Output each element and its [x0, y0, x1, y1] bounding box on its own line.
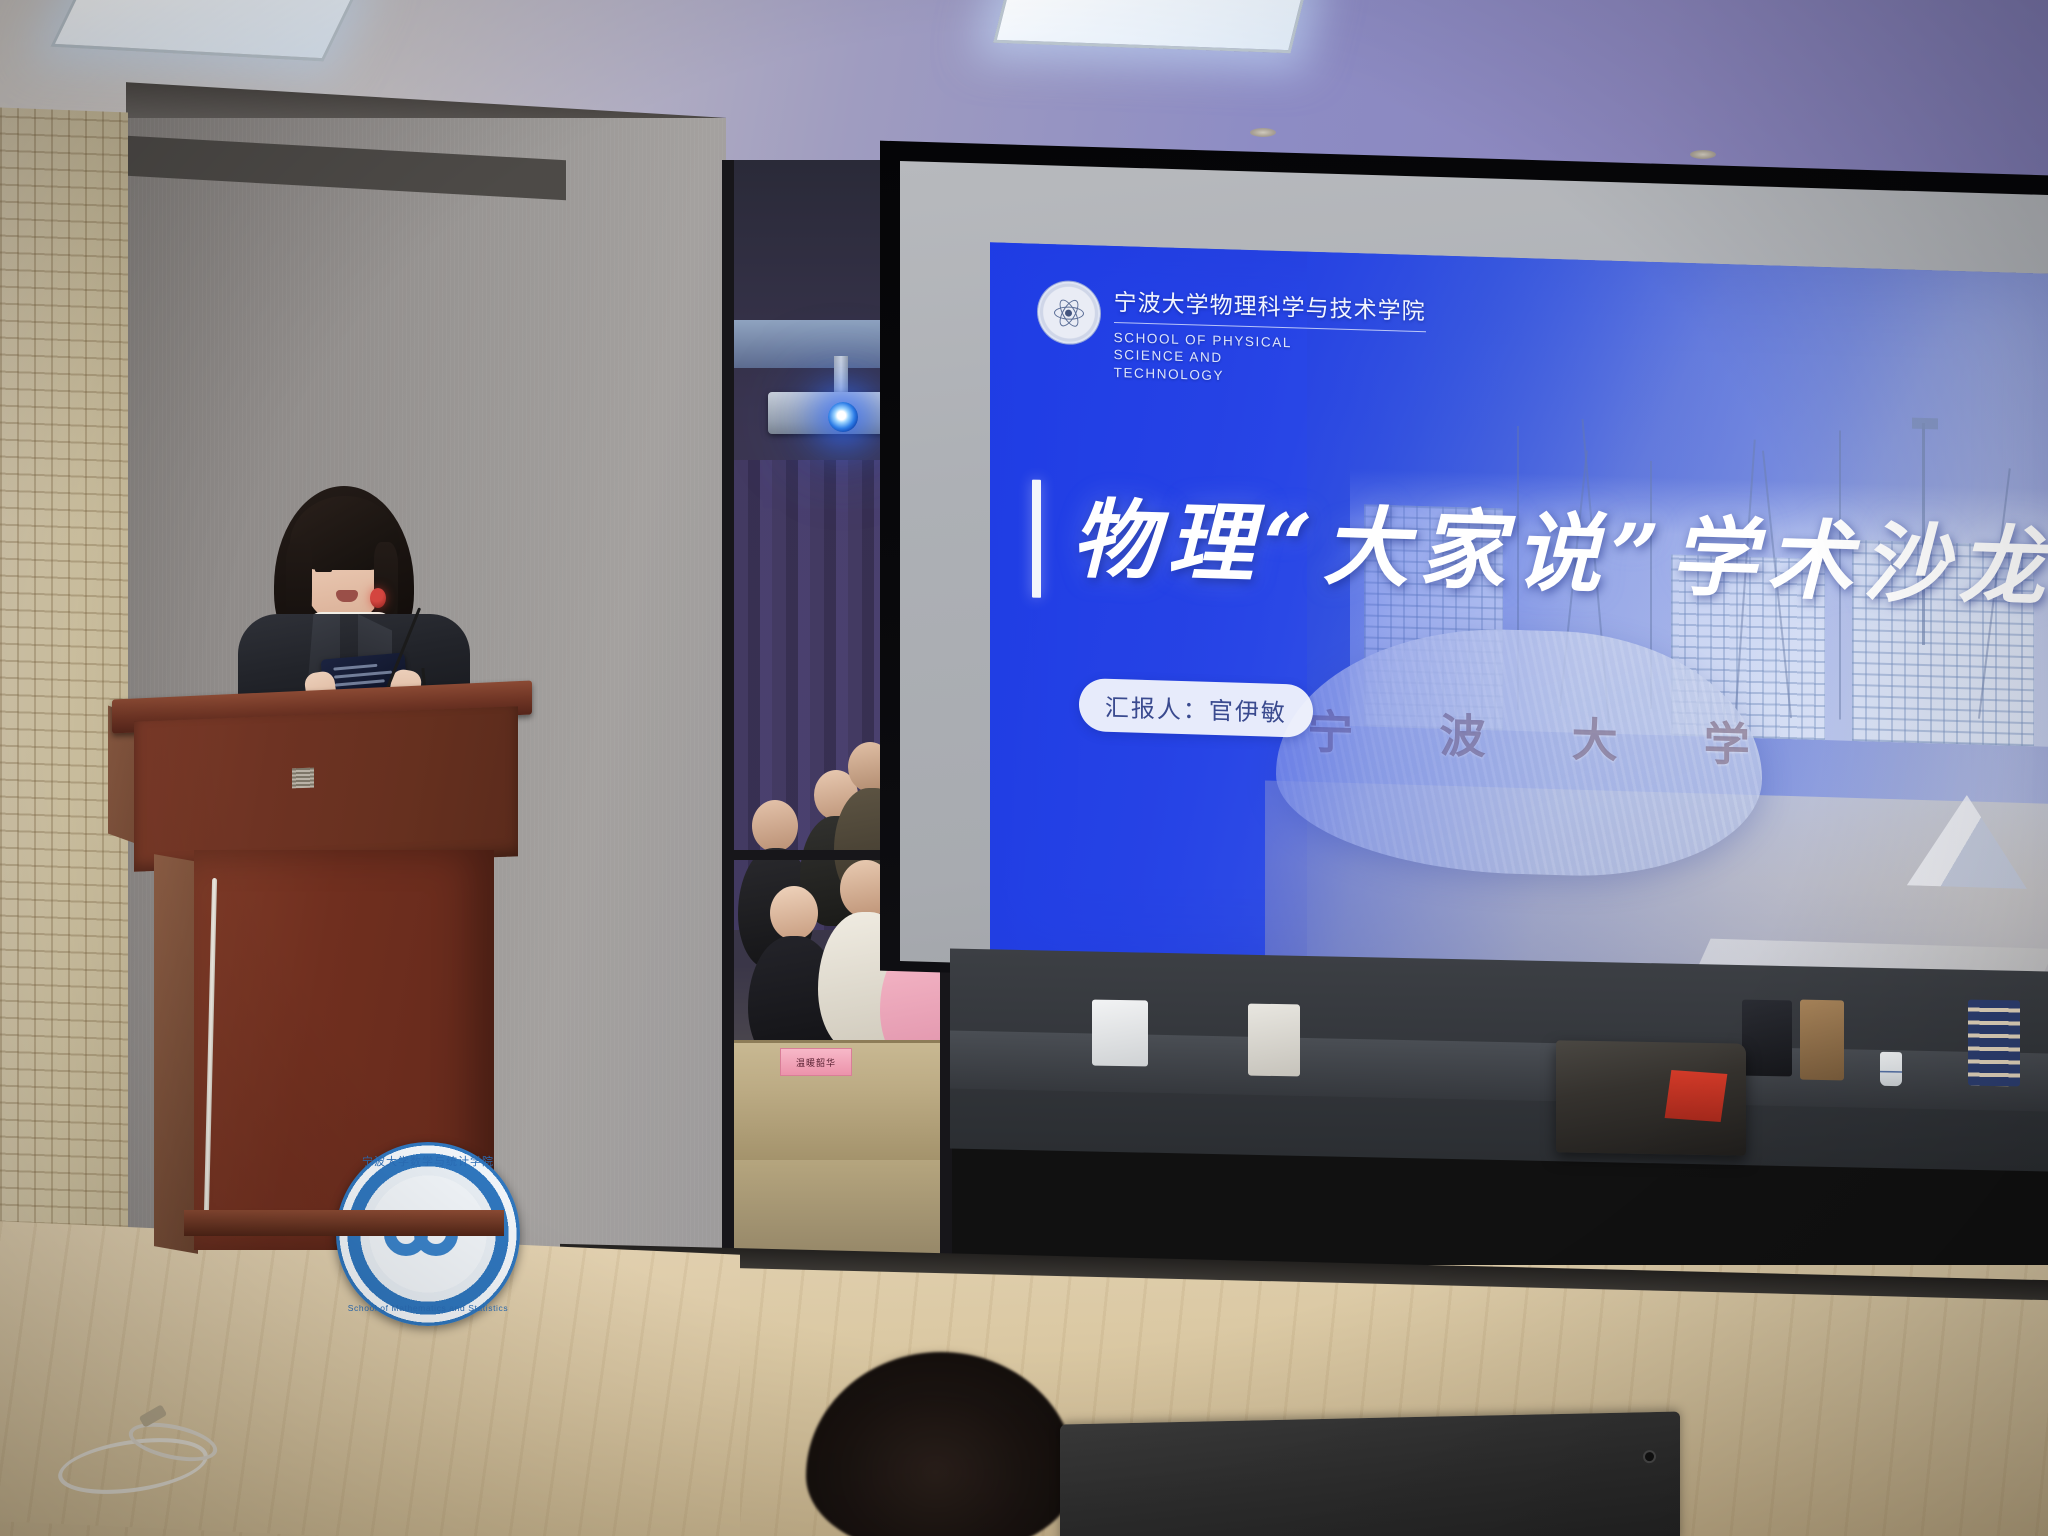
audience-head: [770, 886, 818, 940]
foreground-dark-panel: [1060, 1412, 1680, 1536]
panel-port-icon: [1645, 1452, 1654, 1461]
school-name-en: SCHOOL OF PHYSICAL SCIENCE AND TECHNOLOG…: [1114, 329, 1354, 388]
title-accent-bar: [1032, 480, 1041, 598]
slide-title: 物理“大家说”学术沙龙: [1071, 497, 2048, 612]
podium-column-side: [154, 854, 198, 1254]
phone-text-line: [335, 679, 385, 686]
podium-control-plate: [292, 768, 314, 789]
white-bag: [1092, 1000, 1148, 1067]
paper-bag: [1800, 1000, 1844, 1081]
school-name-cn: 宁波大学物理科学与技术学院: [1114, 283, 1426, 332]
podium-emblem-name-cn: 宁波大学数学与统计学院: [336, 1153, 520, 1169]
presenter: [232, 486, 482, 716]
glass-mullion: [722, 160, 734, 1310]
podium-column: 宁波大学数学与统计学院 School of Mathematics and St…: [194, 850, 494, 1250]
slide-logo-text: 宁波大学物理科学与技术学院 SCHOOL OF PHYSICAL SCIENCE…: [1114, 283, 1426, 390]
atom-nucleus: [1065, 309, 1072, 316]
presenter-mouth: [336, 590, 358, 602]
presenter-badge: 汇报人：官伊敏: [1079, 678, 1313, 738]
atom-emblem-icon: [1038, 281, 1100, 345]
podium: 宁波大学数学与统计学院 School of Mathematics and St…: [112, 690, 532, 1250]
slide-logo-block: 宁波大学物理科学与技术学院 SCHOOL OF PHYSICAL SCIENCE…: [1038, 281, 1426, 390]
podium-base: [184, 1210, 504, 1236]
red-placard: [1665, 1070, 1728, 1122]
dark-tote-bag: [1742, 1000, 1792, 1077]
projector-lens-icon: [828, 402, 858, 432]
downlight-icon: [1690, 150, 1716, 159]
white-bag: [1248, 1004, 1300, 1077]
phone-text-line: [333, 664, 377, 671]
projector-mount: [834, 356, 848, 396]
phone-text-line: [334, 671, 392, 679]
podium-emblem-name-en: School of Mathematics and Statistics: [336, 1303, 520, 1313]
lecture-hall-photo: 温暖韶华: [0, 0, 2048, 1536]
presentation-slide: 宁 波 大 学 宁波大学物理科学与技术学院 SCHOOL OF PHYSICAL…: [990, 242, 2048, 989]
name-placard: 温暖韶华: [780, 1048, 852, 1076]
podium-front-panel: [134, 706, 518, 871]
downlight-icon: [1250, 128, 1276, 137]
patterned-bag: [1968, 1000, 2020, 1087]
paper-cup: [1880, 1052, 1902, 1086]
atom-orbits-icon: [1052, 295, 1086, 330]
audience-head: [752, 800, 798, 852]
microphone-head-icon: [370, 588, 386, 608]
